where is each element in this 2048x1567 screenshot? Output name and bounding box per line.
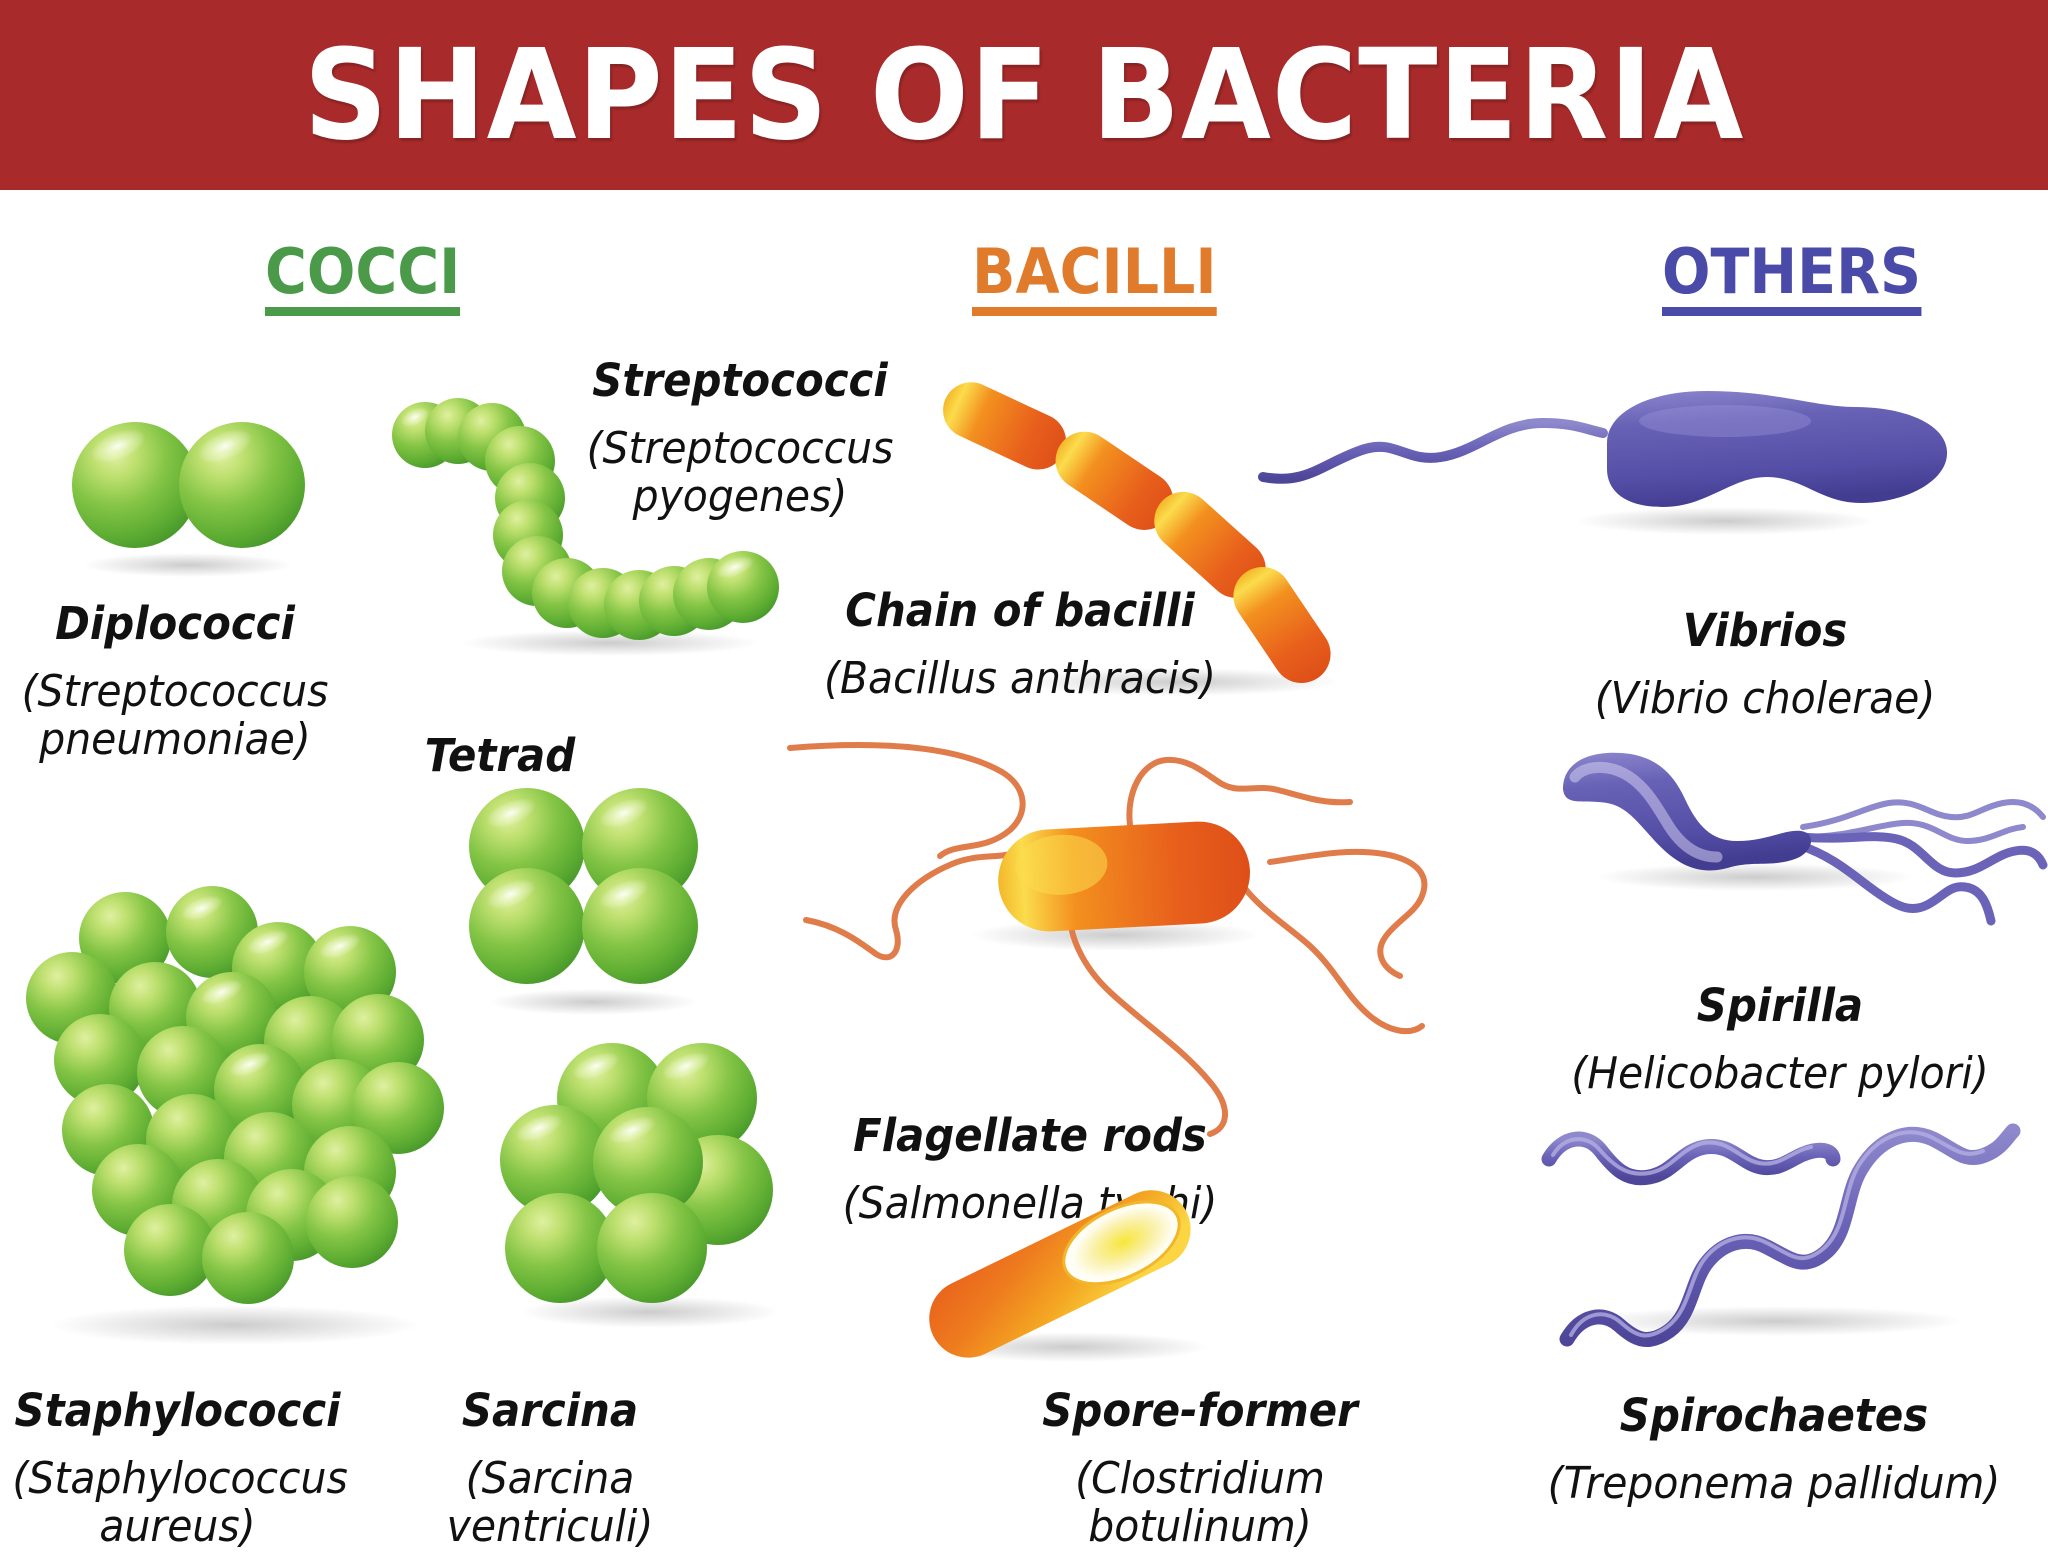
caption-chain-of-bacilli-common: Chain of bacilli: [815, 587, 1224, 636]
caption-spirilla: Spirilla (Helicobacter pylori): [1525, 965, 2035, 1115]
caption-diplococci-scientific: (Streptococcus pneumoniae): [12, 668, 338, 763]
tetrad-svg: [465, 780, 715, 1020]
caption-tetrad-common: Tetrad: [361, 732, 640, 781]
spirilla-illustration: [1545, 745, 2045, 995]
flagellate-rods-svg: [770, 730, 1430, 1130]
caption-staphylococci-common: Staphylococci: [12, 1387, 342, 1436]
caption-spore-former-common: Spore-former: [1014, 1387, 1386, 1436]
caption-chain-of-bacilli: Chain of bacilli (Bacillus anthracis): [800, 570, 1240, 720]
sarcina-svg: [500, 1040, 800, 1340]
caption-spirilla-common: Spirilla: [1543, 982, 2017, 1031]
caption-spirilla-scientific: (Helicobacter pylori): [1543, 1050, 2017, 1098]
spore-former-illustration: [880, 1195, 1240, 1395]
staphylococci-svg: [20, 900, 450, 1350]
column-heading-bacilli-label: BACILLI: [972, 235, 1217, 308]
caption-staphylococci-scientific: (Staphylococcus aureus): [12, 1455, 342, 1550]
caption-spore-former-scientific: (Clostridium botulinum): [1014, 1455, 1386, 1550]
spirilla-svg: [1545, 745, 2045, 995]
staphylococci-illustration: [20, 900, 450, 1350]
caption-vibrios: Vibrios (Vibrio cholerae): [1540, 590, 1990, 740]
diplococci-illustration: [60, 400, 320, 580]
caption-sarcina-scientific: (Sarcina ventriculi): [415, 1455, 685, 1550]
spore-former-svg: [880, 1195, 1240, 1395]
vibrios-illustration: [1255, 385, 1955, 585]
column-heading-cocci-underline: [265, 307, 460, 316]
caption-streptococci: Streptococci (Streptococcus pyogenes): [555, 340, 925, 537]
column-heading-others: OTHERS: [1662, 235, 1921, 316]
caption-chain-of-bacilli-scientific: (Bacillus anthracis): [815, 655, 1224, 703]
flagellate-rods-illustration: [770, 730, 1430, 1130]
caption-streptococci-common: Streptococci: [568, 357, 912, 406]
diplococci-svg: [60, 400, 320, 580]
caption-sarcina-common: Sarcina: [415, 1387, 685, 1436]
caption-spirochaetes-scientific: (Treponema pallidum): [1519, 1460, 2029, 1508]
vibrios-svg: [1255, 385, 1955, 585]
poster-canvas: SHAPES OF BACTERIA COCCI BACILLI OTHERS: [0, 0, 2048, 1533]
tetrad-illustration: [465, 780, 715, 1020]
caption-vibrios-scientific: (Vibrio cholerae): [1556, 675, 1975, 723]
column-heading-cocci: COCCI: [265, 235, 460, 316]
caption-vibrios-common: Vibrios: [1556, 607, 1975, 656]
column-heading-cocci-label: COCCI: [265, 235, 460, 308]
caption-sarcina: Sarcina (Sarcina ventriculi): [405, 1370, 695, 1567]
caption-spore-former: Spore-former (Clostridium botulinum): [1000, 1370, 1400, 1567]
caption-streptococci-scientific: (Streptococcus pyogenes): [568, 425, 912, 520]
sarcina-illustration: [500, 1040, 800, 1340]
caption-diplococci: Diplococci (Streptococcus pneumoniae): [0, 583, 350, 780]
column-heading-bacilli: BACILLI: [972, 235, 1217, 316]
caption-flagellate-rods-common: Flagellate rods: [811, 1112, 1248, 1161]
caption-diplococci-common: Diplococci: [12, 600, 338, 649]
page-title: SHAPES OF BACTERIA: [72, 0, 1977, 190]
title-banner: SHAPES OF BACTERIA: [0, 0, 2048, 190]
spirochaetes-svg: [1545, 1125, 2045, 1375]
caption-spirochaetes: Spirochaetes (Treponema pallidum): [1500, 1375, 2048, 1525]
column-heading-others-label: OTHERS: [1662, 235, 1921, 308]
caption-staphylococci: Staphylococci (Staphylococcus aureus): [0, 1370, 355, 1567]
column-heading-bacilli-underline: [972, 307, 1217, 316]
column-heading-others-underline: [1662, 307, 1921, 316]
caption-spirochaetes-common: Spirochaetes: [1519, 1392, 2029, 1441]
spirochaetes-illustration: [1545, 1125, 2045, 1375]
